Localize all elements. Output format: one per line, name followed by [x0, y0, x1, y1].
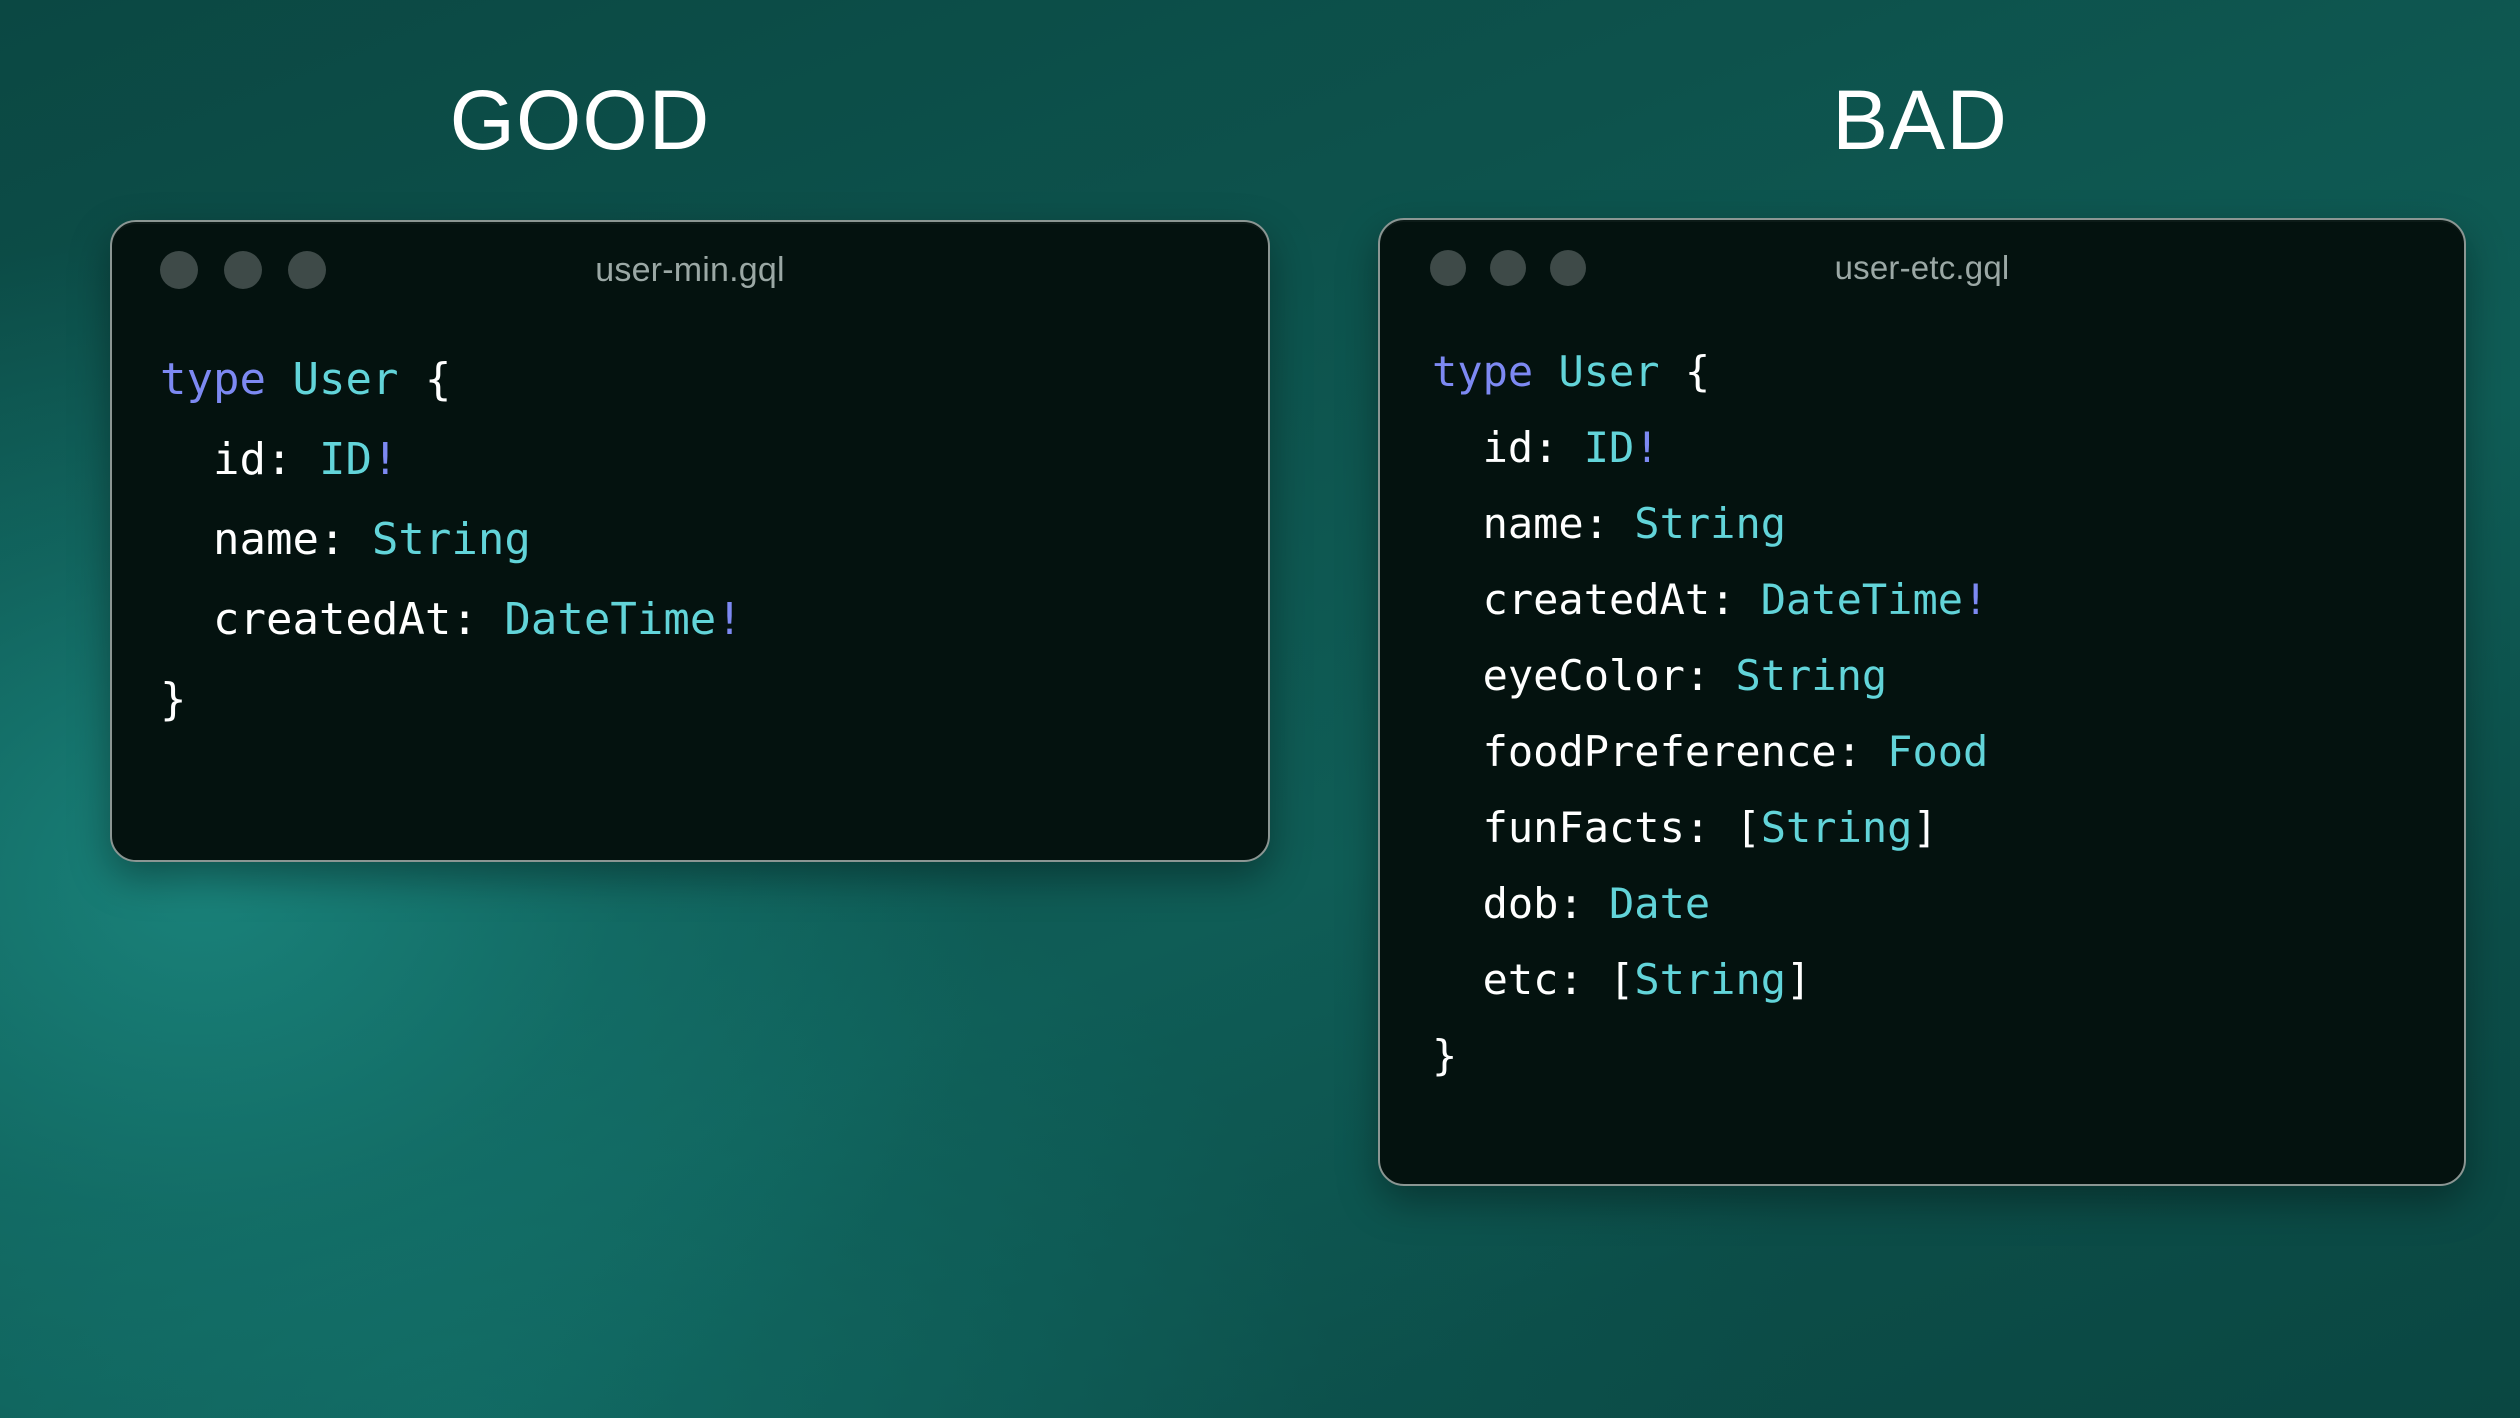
code-token-field: createdAt: [1432, 575, 1761, 624]
maximize-dot-icon[interactable] [288, 251, 326, 289]
code-token-non-null-bang: ! [716, 594, 743, 645]
code-token-type: DateTime [1761, 575, 1963, 624]
code-line: id: ID! [1432, 410, 2464, 486]
minimize-dot-icon[interactable] [1490, 250, 1526, 286]
code-line: createdAt: DateTime! [1432, 562, 2464, 638]
code-token-type: String [1761, 803, 1913, 852]
code-token-punctuation: } [160, 674, 187, 725]
code-line: id: ID! [160, 420, 1268, 500]
code-token-type: String [1735, 651, 1887, 700]
code-token-keyword: type [1432, 347, 1533, 396]
code-token-punctuation: { [398, 354, 451, 405]
code-line: } [1432, 1018, 2464, 1094]
code-token-type: DateTime [504, 594, 716, 645]
code-token-field: id: [160, 434, 319, 485]
traffic-lights [1430, 250, 1586, 286]
code-token-field: name: [160, 514, 372, 565]
code-window-good: user-min.gql type User { id: ID! name: S… [110, 220, 1270, 862]
code-window-bad: user-etc.gql type User { id: ID! name: S… [1378, 218, 2466, 1186]
window-titlebar: user-etc.gql [1380, 220, 2464, 316]
code-token-keyword: type [160, 354, 266, 405]
code-token-type: Food [1887, 727, 1988, 776]
code-token-type: String [372, 514, 531, 565]
code-token-field: name: [1432, 499, 1634, 548]
code-token-punctuation: } [1432, 1031, 1457, 1080]
code-token-punctuation: [ [1735, 803, 1760, 852]
code-token-punctuation: { [1660, 347, 1711, 396]
maximize-dot-icon[interactable] [1550, 250, 1586, 286]
code-token-type: User [1558, 347, 1659, 396]
heading-good: GOOD [300, 78, 860, 162]
traffic-lights [160, 251, 326, 289]
code-token-type: User [292, 354, 398, 405]
code-token-field: id: [1432, 423, 1584, 472]
code-line: type User { [1432, 334, 2464, 410]
minimize-dot-icon[interactable] [224, 251, 262, 289]
code-token-punctuation: ] [1912, 803, 1937, 852]
code-token-type: Date [1609, 879, 1710, 928]
code-token-type: String [1634, 955, 1786, 1004]
code-line: funFacts: [String] [1432, 790, 2464, 866]
code-line: } [160, 660, 1268, 740]
code-token-field: etc: [1432, 955, 1609, 1004]
code-line: foodPreference: Food [1432, 714, 2464, 790]
code-token-field: funFacts: [1432, 803, 1735, 852]
code-line: type User { [160, 340, 1268, 420]
code-line: name: String [1432, 486, 2464, 562]
code-token-type: ID [1584, 423, 1635, 472]
code-token-type: ID [319, 434, 372, 485]
close-dot-icon[interactable] [1430, 250, 1466, 286]
code-line: eyeColor: String [1432, 638, 2464, 714]
code-token-punctuation: ] [1786, 955, 1811, 1004]
code-line: createdAt: DateTime! [160, 580, 1268, 660]
code-token-punctuation [266, 354, 293, 405]
code-token-field: createdAt: [160, 594, 504, 645]
heading-bad: BAD [1640, 78, 2200, 162]
code-block: type User { id: ID! name: String created… [1380, 316, 2464, 1094]
code-token-non-null-bang: ! [1634, 423, 1659, 472]
code-token-non-null-bang: ! [372, 434, 399, 485]
code-line: name: String [160, 500, 1268, 580]
code-token-punctuation: [ [1609, 955, 1634, 1004]
code-token-field: dob: [1432, 879, 1609, 928]
code-line: etc: [String] [1432, 942, 2464, 1018]
code-token-type: String [1634, 499, 1786, 548]
code-token-field: eyeColor: [1432, 651, 1735, 700]
code-token-field: foodPreference: [1432, 727, 1887, 776]
code-token-punctuation [1533, 347, 1558, 396]
code-token-non-null-bang: ! [1963, 575, 1988, 624]
window-titlebar: user-min.gql [112, 222, 1268, 318]
code-line: dob: Date [1432, 866, 2464, 942]
close-dot-icon[interactable] [160, 251, 198, 289]
code-block: type User { id: ID! name: String created… [112, 318, 1268, 740]
